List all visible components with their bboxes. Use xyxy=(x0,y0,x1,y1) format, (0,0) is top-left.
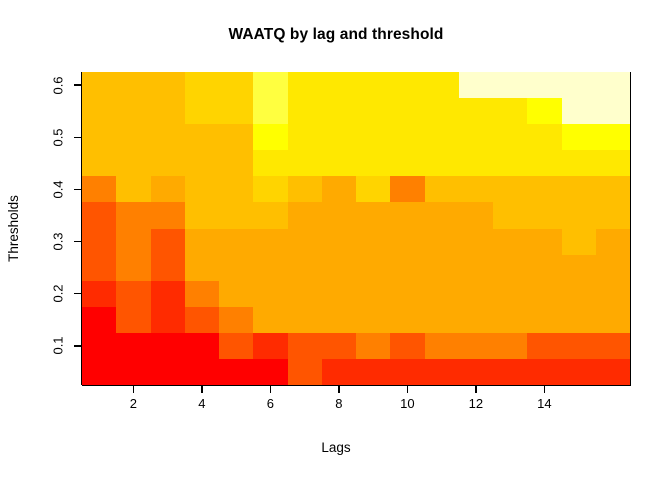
heatmap-cell xyxy=(322,281,356,307)
heatmap-cell xyxy=(596,98,630,124)
heatmap-cell xyxy=(219,333,253,359)
heatmap-cell xyxy=(253,255,287,281)
heatmap-cell xyxy=(288,98,322,124)
heatmap-cell xyxy=(459,359,493,385)
heatmap-cell xyxy=(390,255,424,281)
heatmap-cell xyxy=(596,124,630,150)
x-tick-mark xyxy=(544,386,545,393)
y-tick-label-wrap: 0.1 xyxy=(46,324,70,368)
plot-panel xyxy=(82,72,630,385)
heatmap-cell xyxy=(151,255,185,281)
heatmap-cell xyxy=(151,307,185,333)
y-axis-line xyxy=(81,72,82,385)
heatmap-cell xyxy=(596,229,630,255)
heatmap-cell xyxy=(390,281,424,307)
heatmap-cell xyxy=(116,281,150,307)
heatmap-cell xyxy=(493,333,527,359)
heatmap-cell xyxy=(493,150,527,176)
heatmap-cell xyxy=(562,176,596,202)
heatmap-cell xyxy=(425,176,459,202)
heatmap-cell xyxy=(116,307,150,333)
heatmap-cell xyxy=(425,72,459,98)
heatmap-cell xyxy=(253,307,287,333)
heatmap-cell xyxy=(219,124,253,150)
heatmap-cell xyxy=(82,333,116,359)
y-tick-mark xyxy=(74,293,81,294)
y-tick-mark xyxy=(74,189,81,190)
x-tick-mark xyxy=(201,386,202,393)
heatmap-plot: WAATQ by lag and threshold 2468101214 0.… xyxy=(0,0,672,480)
heatmap-cell xyxy=(459,124,493,150)
heatmap-cell xyxy=(322,124,356,150)
heatmap-cell xyxy=(390,202,424,228)
heatmap-cell xyxy=(596,281,630,307)
heatmap-cell xyxy=(322,307,356,333)
heatmap-cell xyxy=(596,202,630,228)
heatmap-cell xyxy=(219,176,253,202)
x-tick-mark xyxy=(407,386,408,393)
heatmap-cell xyxy=(116,72,150,98)
heatmap-cell xyxy=(151,333,185,359)
heatmap-cell xyxy=(253,176,287,202)
heatmap-cell xyxy=(288,150,322,176)
x-tick-label: 6 xyxy=(250,396,290,411)
heatmap-cell xyxy=(288,359,322,385)
heatmap-cell xyxy=(253,333,287,359)
heatmap-cell xyxy=(288,307,322,333)
heatmap-cell xyxy=(356,229,390,255)
heatmap-cell xyxy=(185,333,219,359)
heatmap-cell xyxy=(390,72,424,98)
heatmap-cell xyxy=(185,229,219,255)
y-tick-mark xyxy=(74,241,81,242)
heatmap-cell xyxy=(219,72,253,98)
heatmap-cell xyxy=(356,150,390,176)
heatmap-cell xyxy=(288,72,322,98)
heatmap-cell xyxy=(322,72,356,98)
heatmap-cell xyxy=(116,333,150,359)
heatmap-cell xyxy=(562,124,596,150)
heatmap-cell xyxy=(527,202,561,228)
y-tick-mark xyxy=(74,137,81,138)
heatmap-cell xyxy=(596,359,630,385)
heatmap-cell xyxy=(82,307,116,333)
heatmap-cell xyxy=(459,307,493,333)
heatmap-cell xyxy=(116,176,150,202)
heatmap-cell xyxy=(219,255,253,281)
heatmap-cell xyxy=(185,98,219,124)
heatmap-cell xyxy=(82,202,116,228)
heatmap-cell xyxy=(288,124,322,150)
heatmap-cell xyxy=(288,202,322,228)
heatmap-cell xyxy=(390,307,424,333)
heatmap-cell xyxy=(116,229,150,255)
heatmap-cell xyxy=(185,202,219,228)
heatmap-cell xyxy=(219,281,253,307)
heatmap-cell xyxy=(116,255,150,281)
heatmap-cell xyxy=(219,202,253,228)
heatmap-cell xyxy=(82,281,116,307)
heatmap-cell xyxy=(493,229,527,255)
y-tick-mark xyxy=(74,84,81,85)
y-axis-label-wrap: Thresholds xyxy=(0,72,26,385)
heatmap-cell xyxy=(459,150,493,176)
heatmap-cell xyxy=(390,176,424,202)
heatmap-cell xyxy=(493,124,527,150)
y-tick-label-wrap: 0.2 xyxy=(46,272,70,316)
heatmap-cell xyxy=(322,255,356,281)
heatmap-cell xyxy=(562,72,596,98)
heatmap-cell xyxy=(390,359,424,385)
heatmap-cell xyxy=(151,98,185,124)
heatmap-cell xyxy=(116,202,150,228)
heatmap-cell xyxy=(562,333,596,359)
heatmap-cell xyxy=(219,150,253,176)
heatmap-cell xyxy=(493,98,527,124)
heatmap-cell xyxy=(562,255,596,281)
heatmap-cell xyxy=(459,281,493,307)
heatmap-cell xyxy=(527,359,561,385)
heatmap-cell xyxy=(151,359,185,385)
heatmap-cell xyxy=(425,255,459,281)
heatmap-cell xyxy=(116,150,150,176)
x-tick-mark xyxy=(475,386,476,393)
heatmap-cell xyxy=(253,124,287,150)
y-tick-label: 0.3 xyxy=(50,232,65,250)
y-tick-label-wrap: 0.5 xyxy=(46,115,70,159)
heatmap-cell xyxy=(322,229,356,255)
heatmap-cell xyxy=(322,176,356,202)
heatmap-cell xyxy=(425,98,459,124)
heatmap-cell xyxy=(596,150,630,176)
heatmap-cell xyxy=(562,307,596,333)
heatmap-cell xyxy=(390,229,424,255)
heatmap-cell xyxy=(527,255,561,281)
heatmap-cell xyxy=(390,333,424,359)
heatmap-grid xyxy=(82,72,630,385)
heatmap-cell xyxy=(288,255,322,281)
heatmap-cell xyxy=(425,333,459,359)
heatmap-cell xyxy=(493,202,527,228)
heatmap-cell xyxy=(356,333,390,359)
heatmap-cell xyxy=(356,307,390,333)
heatmap-cell xyxy=(356,202,390,228)
heatmap-cell xyxy=(288,281,322,307)
x-tick-label: 4 xyxy=(182,396,222,411)
heatmap-cell xyxy=(356,359,390,385)
heatmap-cell xyxy=(425,150,459,176)
heatmap-cell xyxy=(185,359,219,385)
heatmap-cell xyxy=(425,229,459,255)
y-tick-label: 0.6 xyxy=(50,76,65,94)
heatmap-cell xyxy=(493,255,527,281)
heatmap-cell xyxy=(527,124,561,150)
x-tick-label: 10 xyxy=(387,396,427,411)
heatmap-cell xyxy=(596,72,630,98)
heatmap-cell xyxy=(82,124,116,150)
heatmap-cell xyxy=(459,202,493,228)
heatmap-cell xyxy=(151,72,185,98)
heatmap-cell xyxy=(527,333,561,359)
heatmap-cell xyxy=(562,202,596,228)
heatmap-cell xyxy=(185,124,219,150)
x-tick-mark xyxy=(133,386,134,393)
heatmap-cell xyxy=(151,176,185,202)
heatmap-cell xyxy=(425,307,459,333)
heatmap-cell xyxy=(253,202,287,228)
heatmap-cell xyxy=(527,281,561,307)
x-tick-mark xyxy=(338,386,339,393)
heatmap-cell xyxy=(82,176,116,202)
heatmap-cell xyxy=(596,176,630,202)
heatmap-cell xyxy=(185,307,219,333)
y-tick-label-wrap: 0.3 xyxy=(46,220,70,264)
x-tick-label: 2 xyxy=(113,396,153,411)
heatmap-cell xyxy=(459,98,493,124)
heatmap-cell xyxy=(82,150,116,176)
x-tick-label: 14 xyxy=(524,396,564,411)
heatmap-cell xyxy=(527,72,561,98)
heatmap-cell xyxy=(390,124,424,150)
heatmap-cell xyxy=(82,72,116,98)
heatmap-cell xyxy=(151,229,185,255)
y-tick-label: 0.1 xyxy=(50,337,65,355)
heatmap-cell xyxy=(185,281,219,307)
heatmap-cell xyxy=(322,150,356,176)
heatmap-cell xyxy=(116,98,150,124)
heatmap-cell xyxy=(288,229,322,255)
heatmap-cell xyxy=(459,229,493,255)
heatmap-cell xyxy=(356,176,390,202)
heatmap-cell xyxy=(151,281,185,307)
heatmap-cell xyxy=(253,281,287,307)
heatmap-cell xyxy=(459,255,493,281)
heatmap-cell xyxy=(562,359,596,385)
heatmap-cell xyxy=(356,281,390,307)
heatmap-cell xyxy=(459,333,493,359)
heatmap-cell xyxy=(322,98,356,124)
heatmap-cell xyxy=(527,176,561,202)
y-tick-label: 0.2 xyxy=(50,285,65,303)
heatmap-cell xyxy=(82,359,116,385)
heatmap-cell xyxy=(562,281,596,307)
heatmap-cell xyxy=(596,255,630,281)
heatmap-cell xyxy=(562,98,596,124)
heatmap-cell xyxy=(425,124,459,150)
heatmap-cell xyxy=(322,202,356,228)
y-axis-label: Thresholds xyxy=(6,195,21,262)
heatmap-cell xyxy=(527,98,561,124)
heatmap-cell xyxy=(390,98,424,124)
heatmap-cell xyxy=(322,359,356,385)
heatmap-cell xyxy=(425,202,459,228)
x-tick-mark xyxy=(270,386,271,393)
page-title: WAATQ by lag and threshold xyxy=(0,26,672,44)
heatmap-cell xyxy=(185,255,219,281)
heatmap-cell xyxy=(527,229,561,255)
heatmap-cell xyxy=(493,176,527,202)
heatmap-cell xyxy=(493,307,527,333)
heatmap-cell xyxy=(219,98,253,124)
heatmap-cell xyxy=(151,150,185,176)
x-axis-label: Lags xyxy=(0,440,672,455)
heatmap-cell xyxy=(356,72,390,98)
heatmap-cell xyxy=(562,150,596,176)
y-tick-mark xyxy=(74,345,81,346)
heatmap-cell xyxy=(253,150,287,176)
heatmap-cell xyxy=(596,333,630,359)
heatmap-cell xyxy=(219,359,253,385)
x-tick-label: 12 xyxy=(456,396,496,411)
heatmap-cell xyxy=(82,98,116,124)
heatmap-cell xyxy=(596,307,630,333)
heatmap-cell xyxy=(527,150,561,176)
heatmap-cell xyxy=(185,176,219,202)
heatmap-cell xyxy=(82,255,116,281)
heatmap-cell xyxy=(527,307,561,333)
heatmap-cell xyxy=(459,72,493,98)
heatmap-cell xyxy=(116,124,150,150)
heatmap-cell xyxy=(151,202,185,228)
heatmap-cell xyxy=(425,359,459,385)
heatmap-cell xyxy=(151,124,185,150)
heatmap-cell xyxy=(253,98,287,124)
heatmap-cell xyxy=(219,307,253,333)
y-tick-label-wrap: 0.4 xyxy=(46,167,70,211)
heatmap-cell xyxy=(185,72,219,98)
heatmap-cell xyxy=(390,150,424,176)
heatmap-cell xyxy=(253,72,287,98)
heatmap-cell xyxy=(185,150,219,176)
heatmap-cell xyxy=(322,333,356,359)
heatmap-cell xyxy=(253,229,287,255)
right-axis-line xyxy=(630,72,631,385)
y-tick-label: 0.5 xyxy=(50,128,65,146)
heatmap-cell xyxy=(82,229,116,255)
heatmap-cell xyxy=(356,124,390,150)
heatmap-cell xyxy=(493,359,527,385)
heatmap-cell xyxy=(116,359,150,385)
heatmap-cell xyxy=(288,333,322,359)
heatmap-cell xyxy=(356,98,390,124)
heatmap-cell xyxy=(253,359,287,385)
heatmap-cell xyxy=(425,281,459,307)
x-tick-label: 8 xyxy=(319,396,359,411)
heatmap-cell xyxy=(288,176,322,202)
heatmap-cell xyxy=(459,176,493,202)
heatmap-cell xyxy=(356,255,390,281)
heatmap-cell xyxy=(493,281,527,307)
heatmap-cell xyxy=(493,72,527,98)
y-tick-label-wrap: 0.6 xyxy=(46,63,70,107)
heatmap-cell xyxy=(562,229,596,255)
x-axis-line xyxy=(82,385,631,386)
heatmap-cell xyxy=(219,229,253,255)
y-tick-label: 0.4 xyxy=(50,180,65,198)
